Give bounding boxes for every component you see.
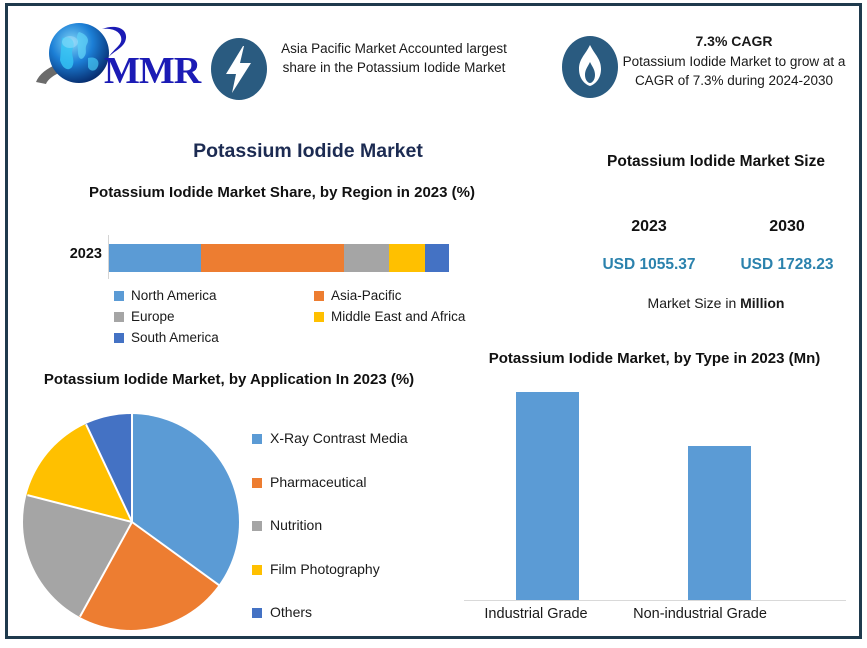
legend-swatch-icon bbox=[252, 608, 262, 618]
type-category-label-0: Industrial Grade bbox=[456, 606, 616, 622]
legend-swatch-icon bbox=[252, 434, 262, 444]
region-legend-item: Asia-Pacific bbox=[314, 285, 514, 306]
type-chart-title: Potassium Iodide Market, by Type in 2023… bbox=[467, 348, 842, 370]
region-bar-segment bbox=[425, 244, 449, 272]
legend-swatch-icon bbox=[114, 333, 124, 343]
application-legend-label: Pharmaceutical bbox=[270, 474, 367, 490]
logo-wordmark: MMR bbox=[104, 49, 200, 93]
region-bar-segment bbox=[344, 244, 390, 272]
flame-icon bbox=[561, 34, 619, 100]
region-legend-label: South America bbox=[131, 330, 219, 345]
application-legend-label: Film Photography bbox=[270, 561, 380, 577]
market-size-unit-bold: Million bbox=[740, 295, 784, 311]
region-share-chart: Potassium Iodide Market Share, by Region… bbox=[22, 182, 522, 354]
region-bar-segment bbox=[201, 244, 344, 272]
legend-swatch-icon bbox=[252, 521, 262, 531]
pie-slice-divider bbox=[131, 521, 220, 586]
region-legend-item: North America bbox=[114, 285, 314, 306]
market-size-value-base: USD 1055.37 bbox=[584, 256, 714, 274]
application-share-chart: Potassium Iodide Market, by Application … bbox=[16, 364, 448, 639]
page-title: Potassium Iodide Market bbox=[28, 140, 588, 163]
type-chart-baseline bbox=[464, 600, 846, 601]
region-chart-title: Potassium Iodide Market Share, by Region… bbox=[57, 182, 507, 204]
region-legend-label: Asia-Pacific bbox=[331, 288, 402, 303]
region-stacked-bar bbox=[109, 244, 449, 272]
type-plot-area bbox=[464, 392, 846, 600]
header-band: MMR Asia Pacific Market Accounted larges… bbox=[8, 6, 859, 118]
market-size-year-forecast: 2030 bbox=[732, 218, 842, 236]
application-legend-label: Others bbox=[270, 604, 312, 620]
region-legend-item: Middle East and Africa bbox=[314, 306, 514, 327]
pie-slice-divider bbox=[79, 522, 133, 618]
region-bar-segment bbox=[109, 244, 201, 272]
type-bar bbox=[516, 392, 579, 600]
pie-slice-divider bbox=[131, 414, 133, 522]
infographic-canvas: MMR Asia Pacific Market Accounted larges… bbox=[5, 3, 862, 639]
application-legend-item: Nutrition bbox=[252, 517, 448, 561]
type-bar bbox=[688, 446, 751, 600]
market-size-panel: Potassium Iodide Market Size 2023 2030 U… bbox=[580, 151, 852, 326]
pie-slice-divider bbox=[27, 494, 132, 523]
region-legend-item: Europe bbox=[114, 306, 314, 327]
region-legend-label: North America bbox=[131, 288, 217, 303]
market-size-title: Potassium Iodide Market Size bbox=[586, 151, 846, 174]
application-legend-item: Film Photography bbox=[252, 561, 448, 605]
application-legend-label: X-Ray Contrast Media bbox=[270, 430, 408, 446]
application-chart-legend: X-Ray Contrast MediaPharmaceuticalNutrit… bbox=[252, 430, 448, 648]
header-stat-1-text: Asia Pacific Market Accounted largest sh… bbox=[268, 39, 520, 77]
region-legend-label: Middle East and Africa bbox=[331, 309, 465, 324]
application-legend-item: Pharmaceutical bbox=[252, 474, 448, 518]
legend-swatch-icon bbox=[114, 291, 124, 301]
region-legend-label: Europe bbox=[131, 309, 175, 324]
lightning-bolt-icon bbox=[210, 36, 268, 102]
header-stat-2-body: Potassium Iodide Market to grow at a CAG… bbox=[623, 54, 846, 88]
company-logo: MMR bbox=[26, 19, 201, 91]
header-stat-2-text: 7.3% CAGR Potassium Iodide Market to gro… bbox=[620, 32, 848, 90]
legend-swatch-icon bbox=[252, 565, 262, 575]
application-chart-title: Potassium Iodide Market, by Application … bbox=[24, 369, 434, 391]
market-size-value-forecast: USD 1728.23 bbox=[722, 256, 852, 274]
legend-swatch-icon bbox=[252, 478, 262, 488]
application-legend-item: X-Ray Contrast Media bbox=[252, 430, 448, 474]
market-size-year-base: 2023 bbox=[594, 218, 704, 236]
market-size-unit-prefix: Market Size in bbox=[648, 295, 741, 311]
header-stat-1-body: Asia Pacific Market Accounted largest sh… bbox=[281, 41, 507, 75]
region-bar-segment bbox=[389, 244, 425, 272]
region-legend-item: South America bbox=[114, 327, 314, 348]
application-pie bbox=[23, 414, 239, 630]
legend-swatch-icon bbox=[314, 312, 324, 322]
type-category-label-1: Non-industrial Grade bbox=[620, 606, 780, 622]
application-legend-item: Others bbox=[252, 604, 448, 648]
pie-slice-divider bbox=[85, 424, 133, 523]
legend-swatch-icon bbox=[114, 312, 124, 322]
market-size-unit-note: Market Size in Million bbox=[586, 295, 846, 311]
region-chart-legend: North AmericaAsia-PacificEuropeMiddle Ea… bbox=[114, 285, 514, 348]
application-legend-label: Nutrition bbox=[270, 517, 322, 533]
header-stat-2-highlight: 7.3% CAGR bbox=[620, 32, 848, 52]
type-split-chart: Potassium Iodide Market, by Type in 2023… bbox=[452, 344, 857, 639]
legend-swatch-icon bbox=[314, 291, 324, 301]
region-category-label: 2023 bbox=[40, 246, 102, 262]
